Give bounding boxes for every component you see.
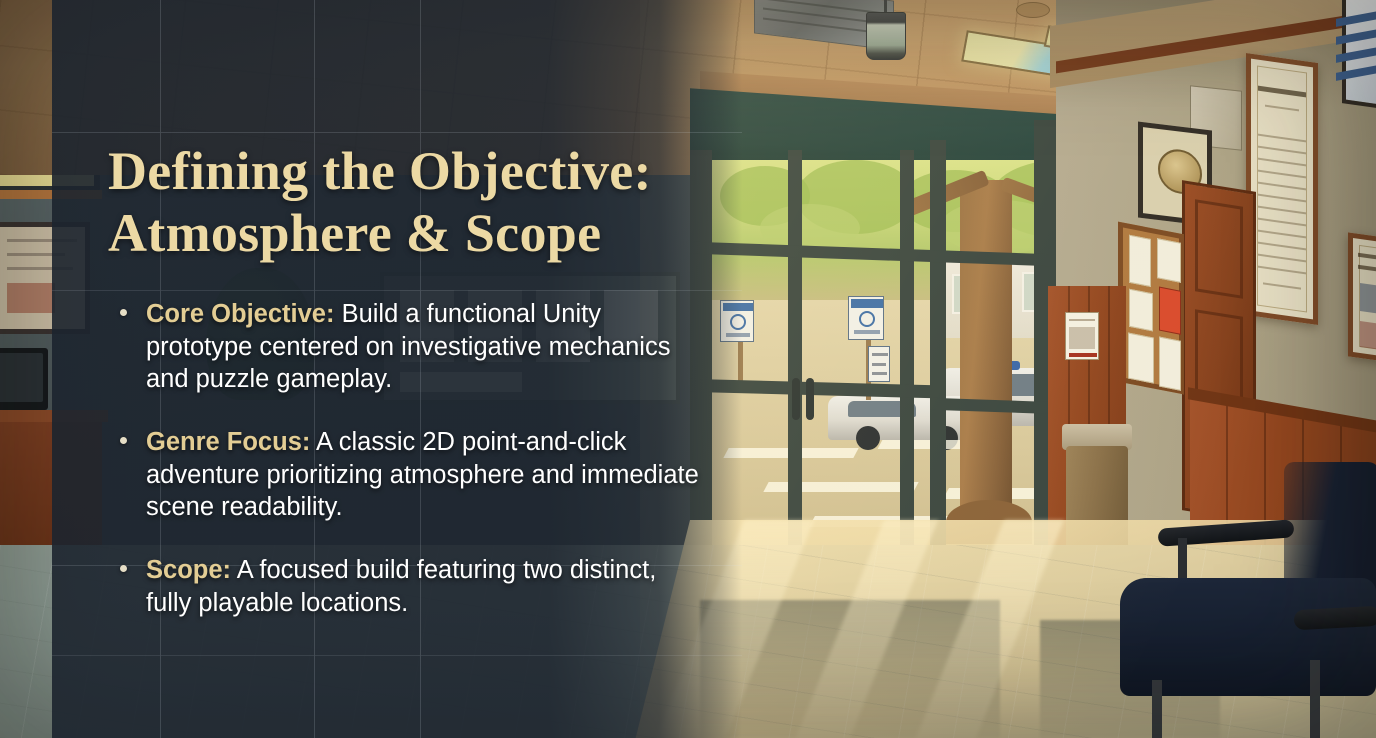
bullet-item-core-objective: Core Objective: Build a functional Unity… bbox=[108, 298, 708, 396]
posted-notice bbox=[1065, 312, 1099, 360]
waiting-chair-seat bbox=[1120, 578, 1376, 696]
entrance-door-mullion-center bbox=[788, 150, 802, 580]
street-sign bbox=[848, 296, 884, 340]
sign-text-line bbox=[872, 353, 888, 356]
street-tree-trunk bbox=[960, 180, 1012, 540]
bullet-dot-icon bbox=[120, 309, 127, 316]
bullet-item-scope: Scope: A focused build featuring two dis… bbox=[108, 554, 708, 619]
door-panel bbox=[1195, 199, 1243, 299]
presentation-slide: Defining the Objective: Atmosphere & Sco… bbox=[0, 0, 1376, 738]
monitor bbox=[0, 348, 48, 410]
waiting-chair-leg bbox=[1152, 680, 1162, 738]
sign-header-bar bbox=[851, 299, 883, 308]
pendant-lamp bbox=[866, 12, 906, 60]
bullet-lead-label: Genre Focus: bbox=[146, 428, 310, 456]
slide-content: Defining the Objective: Atmosphere & Sco… bbox=[108, 140, 708, 619]
framed-notice-lower bbox=[1348, 232, 1376, 363]
waiting-chair-leg bbox=[1310, 660, 1320, 738]
ceiling-smoke-detector-icon bbox=[1016, 2, 1050, 18]
crosswalk-stripe bbox=[878, 440, 973, 449]
door-pull-handle-left[interactable] bbox=[792, 378, 800, 420]
bullet-dot-icon bbox=[120, 565, 127, 572]
sign-caption bbox=[854, 330, 880, 334]
notice-red-bar bbox=[1069, 353, 1097, 357]
framed-certificate bbox=[1246, 53, 1318, 325]
bullet-dot-icon bbox=[120, 437, 127, 444]
bullet-lead-label: Scope: bbox=[146, 556, 231, 584]
door-pull-handle-right[interactable] bbox=[806, 378, 814, 420]
secondary-street-sign bbox=[868, 346, 890, 382]
sign-text-line bbox=[872, 363, 886, 366]
slide-title: Defining the Objective: Atmosphere & Sco… bbox=[108, 140, 708, 264]
sedan-wheel bbox=[856, 426, 880, 450]
corridor-bulletin-board bbox=[1118, 222, 1184, 395]
sign-symbol-icon bbox=[859, 311, 875, 327]
sign-text-line bbox=[872, 372, 887, 375]
crosswalk-stripe bbox=[763, 482, 918, 492]
bullet-list: Core Objective: Build a functional Unity… bbox=[108, 298, 708, 619]
bullet-item-genre-focus: Genre Focus: A classic 2D point-and-clic… bbox=[108, 426, 708, 524]
framed-flag-artwork bbox=[1342, 0, 1376, 113]
entrance-door-mullion-2 bbox=[900, 150, 914, 580]
waiting-chair-armrest-near bbox=[1294, 606, 1376, 630]
bullet-lead-label: Core Objective: bbox=[146, 300, 334, 328]
